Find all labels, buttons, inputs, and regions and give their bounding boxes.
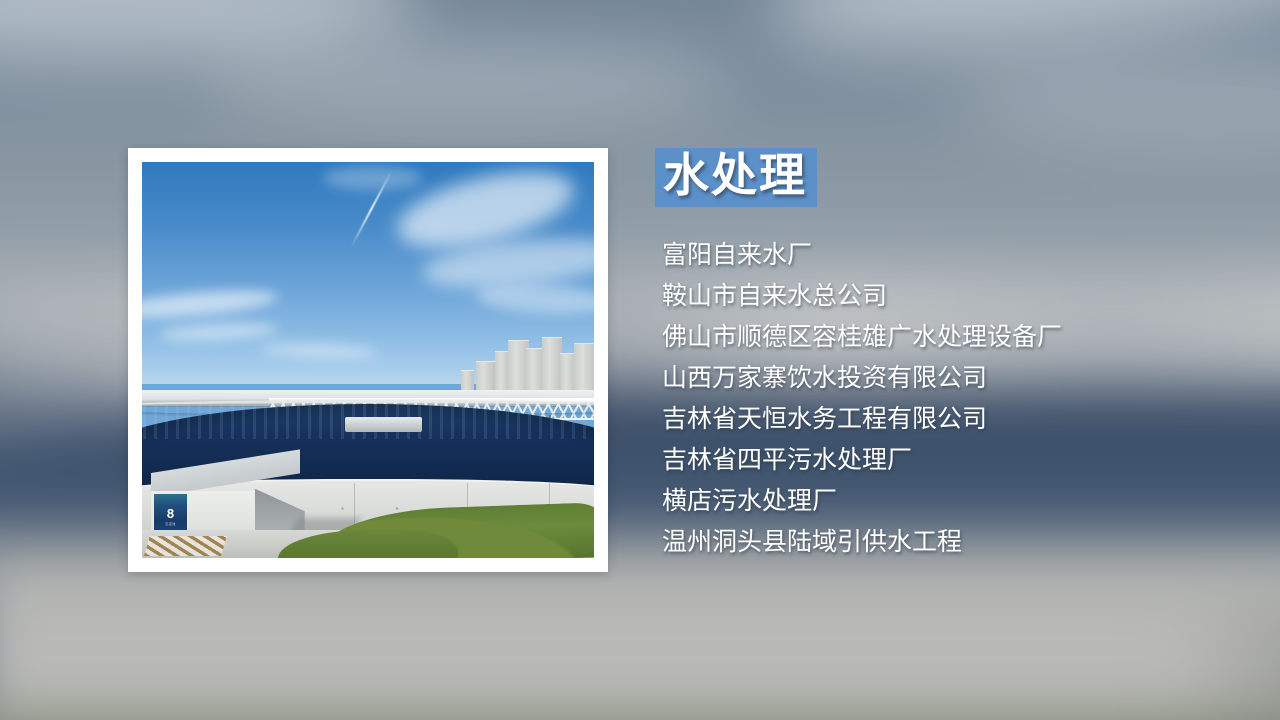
list-item: 佛山市顺德区容桂雄广水处理设备厂 [662, 316, 1215, 357]
list-item: 鞍山市自来水总公司 [662, 275, 1215, 316]
list-item: 吉林省四平污水处理厂 [662, 439, 1215, 480]
customer-list: 富阳自来水厂 鞍山市自来水总公司 佛山市顺德区容桂雄广水处理设备厂 山西万家寨饮… [662, 234, 1215, 562]
background-cloud [199, 41, 734, 121]
text-panel: 水处理 富阳自来水厂 鞍山市自来水总公司 佛山市顺德区容桂雄广水处理设备厂 山西… [655, 148, 1215, 562]
sign-sub-label: 沉淀池 [165, 522, 176, 526]
list-item: 富阳自来水厂 [662, 234, 1215, 275]
list-item: 横店污水处理厂 [662, 480, 1215, 521]
drainage-grate [144, 536, 227, 556]
list-item: 吉林省天恒水务工程有限公司 [662, 398, 1215, 439]
photo-card: 8 沉淀池 [128, 148, 608, 572]
basin-center-well [345, 417, 422, 431]
cloud-wisp [323, 166, 422, 190]
slide-canvas: 8 沉淀池 水处理 富阳自来水厂 鞍山市自来水总公司 佛山市顺德区容桂雄广水处理… [0, 0, 1280, 720]
list-item: 山西万家寨饮水投资有限公司 [662, 357, 1215, 398]
water-treatment-plant-photo: 8 沉淀池 [142, 162, 594, 558]
title-highlight-box: 水处理 [655, 148, 817, 207]
page-title: 水处理 [663, 150, 807, 203]
background-grass [0, 696, 1280, 720]
sign-number-label: 8 [167, 507, 174, 520]
list-item: 温州洞头县陆域引供水工程 [662, 521, 1215, 562]
